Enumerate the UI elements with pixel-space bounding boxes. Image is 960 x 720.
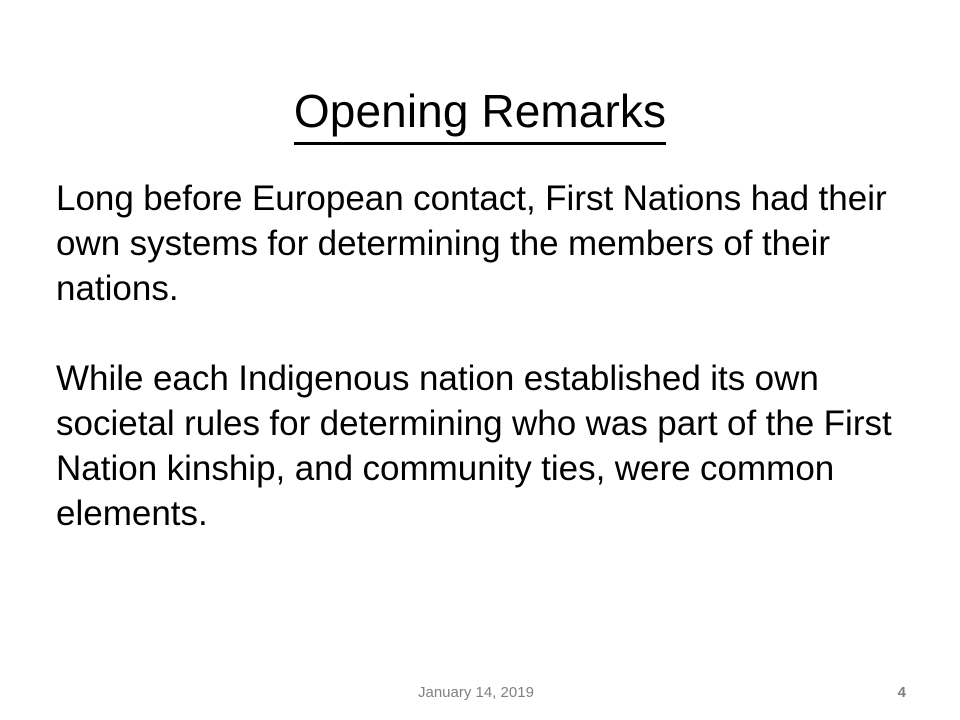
presentation-slide: Opening Remarks Long before European con… — [0, 0, 960, 720]
slide-footer: January 14, 2019 4 — [0, 682, 960, 704]
footer-date: January 14, 2019 — [418, 682, 534, 704]
body-paragraph-1: Long before European contact, First Nati… — [56, 176, 912, 311]
body-paragraph-2: While each Indigenous nation established… — [56, 356, 912, 536]
slide-title-area: Opening Remarks — [0, 52, 960, 176]
page-title: Opening Remarks — [294, 83, 666, 145]
paragraph-spacer — [56, 311, 912, 356]
slide-body: Long before European contact, First Nati… — [56, 176, 912, 536]
slide-number: 4 — [898, 682, 906, 704]
